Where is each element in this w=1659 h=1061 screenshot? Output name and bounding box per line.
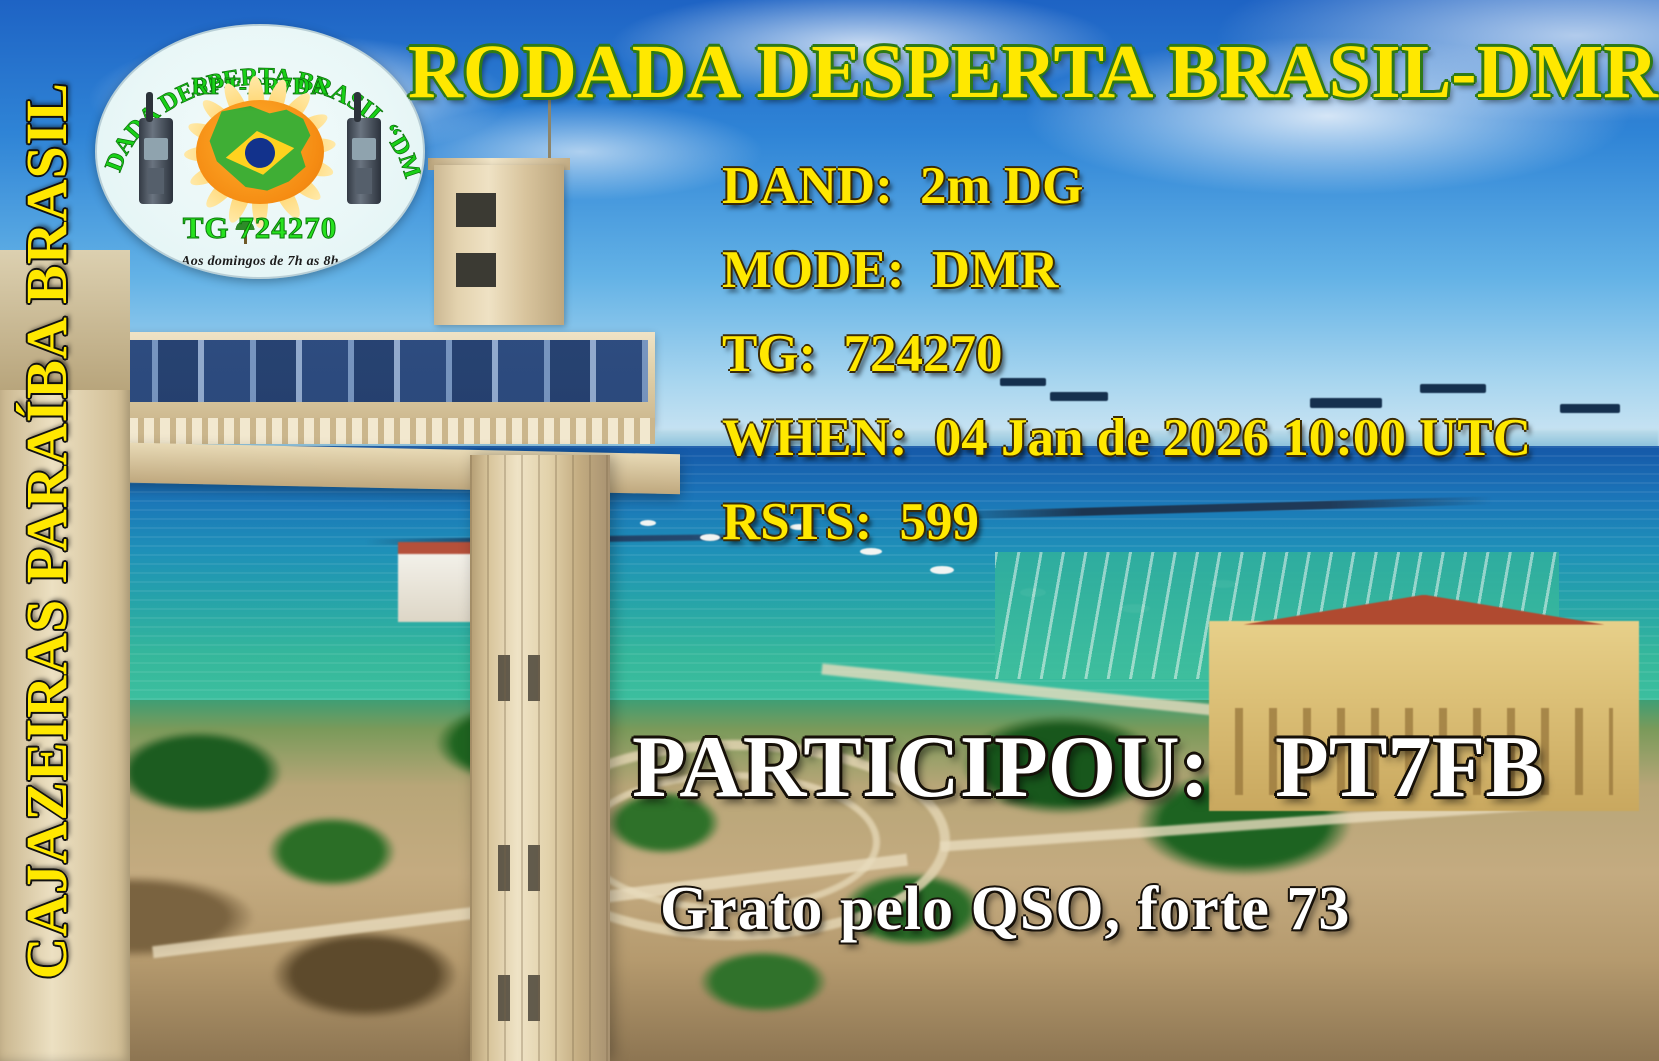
shaft-slot xyxy=(528,975,540,1021)
participation-label: PARTICIPOU: xyxy=(632,719,1209,816)
shaft-slot xyxy=(498,655,510,701)
tower-window xyxy=(456,193,496,227)
field-label-when: WHEN: xyxy=(722,409,908,467)
field-row-mode: MODE: DMR xyxy=(722,244,1652,297)
field-row-dand: DAND: 2m DG xyxy=(722,160,1652,213)
field-label-tg: TG: xyxy=(722,325,816,383)
club-logo: RODADA DESPERTA BRASIL “DMR” RPT-PR7DA xyxy=(95,24,425,279)
field-row-when: WHEN: 04 Jan de 2026 10:00 UTC xyxy=(722,412,1652,465)
field-label-dand: DAND: xyxy=(722,157,893,215)
field-value-mode: DMR xyxy=(932,241,1059,299)
field-value-tg: 724270 xyxy=(843,325,1002,383)
tower-head xyxy=(434,165,564,325)
handheld-radio-icon-right xyxy=(347,118,381,204)
field-value-when: 04 Jan de 2026 10:00 UTC xyxy=(935,409,1531,467)
field-value-rsts: 599 xyxy=(899,493,979,551)
logo-schedule-label: Aos domingos de 7h as 8h xyxy=(97,254,423,270)
field-label-mode: MODE: xyxy=(722,241,905,299)
card-headline: RODADA DESPERTA BRASIL-DMR xyxy=(408,36,1648,108)
participation-line: PARTICIPOU: PT7FB xyxy=(632,724,1632,812)
shaft-slot xyxy=(498,845,510,891)
field-row-tg: TG: 724270 xyxy=(722,328,1652,381)
shaft-slot xyxy=(528,845,540,891)
shaft-slot xyxy=(498,975,510,1021)
field-label-rsts: RSTS: xyxy=(722,493,872,551)
tower-window xyxy=(456,253,496,287)
vertical-banner-text: CAJAZEIRAS PARAÍBA BRASIL xyxy=(13,82,80,979)
qso-data-fields: DAND: 2m DG MODE: DMR TG: 724270 WHEN: 0… xyxy=(722,160,1652,580)
shaft-slot xyxy=(528,655,540,701)
elevator-shaft xyxy=(470,455,610,1061)
thanks-tagline: Grato pelo QSO, forte 73 xyxy=(660,878,1659,940)
qsl-card: CAJAZEIRAS PARAÍBA BRASIL RODADA DESPERT… xyxy=(0,0,1659,1061)
field-value-dand: 2m DG xyxy=(920,157,1083,215)
logo-talkgroup-label: TG 724270 xyxy=(97,210,423,246)
participant-callsign: PT7FB xyxy=(1275,719,1544,816)
handheld-radio-icon-left xyxy=(139,118,173,204)
vertical-banner: CAJAZEIRAS PARAÍBA BRASIL xyxy=(0,0,92,1061)
field-row-rsts: RSTS: 599 xyxy=(722,496,1652,549)
